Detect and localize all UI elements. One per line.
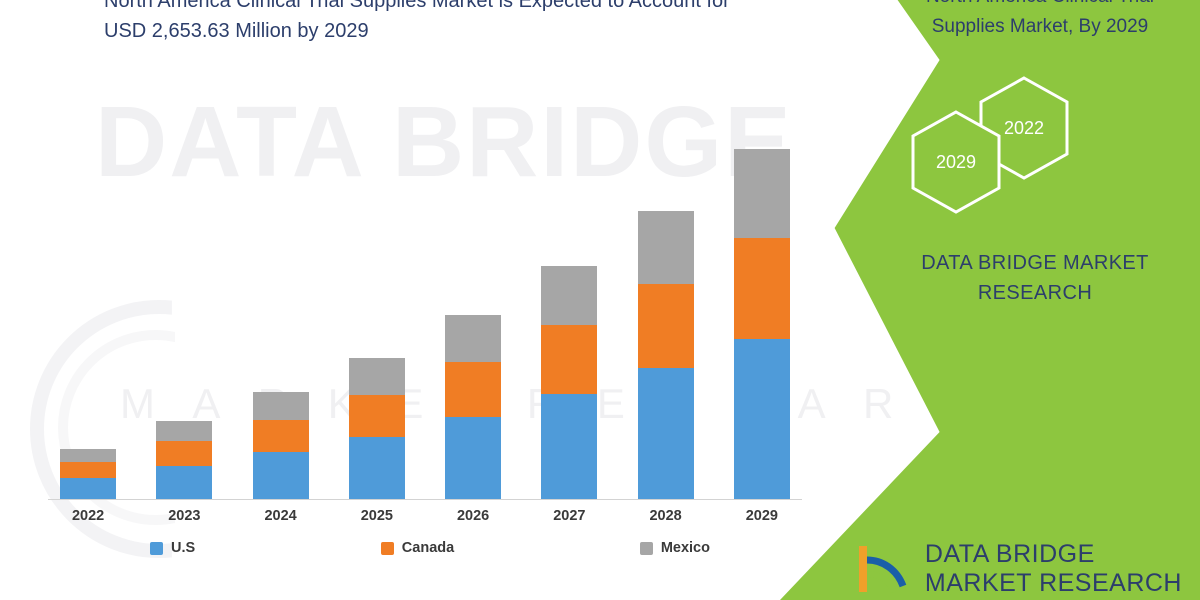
legend-item-canada[interactable]: Canada [381, 540, 454, 556]
bar-column [541, 69, 597, 499]
x-axis-label: 2028 [638, 508, 694, 524]
bar-segment-mexico [156, 421, 212, 441]
bar-segment-mexico [253, 392, 309, 419]
chart-title: North America Clinical Trial Supplies Ma… [104, 0, 744, 46]
bar-segment-canada [349, 395, 405, 437]
legend-swatch-icon [381, 542, 394, 555]
bar-segment-mexico [349, 358, 405, 395]
bar-column [638, 69, 694, 499]
bar-segment-canada [638, 284, 694, 368]
bar-column [60, 69, 116, 499]
panel-brand-name: DATA BRIDGE MARKET RESEARCH [870, 248, 1200, 308]
panel-title: North America Clinical Trial Supplies Ma… [900, 0, 1180, 42]
x-axis-label: 2022 [60, 508, 116, 524]
bar-segment-canada [541, 325, 597, 393]
bar-series-container [40, 69, 810, 499]
legend-label: Canada [402, 540, 454, 556]
bar-segment-us [349, 437, 405, 499]
bar-segment-mexico [541, 266, 597, 326]
panel-brand-line1: DATA BRIDGE MARKET [870, 248, 1200, 278]
x-axis-labels: 20222023202420252026202720282029 [40, 508, 810, 524]
right-panel-content: North America Clinical Trial Supplies Ma… [780, 0, 1200, 600]
legend-item-mexico[interactable]: Mexico [640, 540, 710, 556]
legend-swatch-icon [640, 542, 653, 555]
bar-segment-us [253, 452, 309, 499]
x-axis-line [48, 499, 802, 500]
hexagon-2029-label: 2029 [910, 109, 1002, 215]
bar-segment-mexico [445, 315, 501, 362]
hexagon-2029: 2029 [910, 109, 1002, 215]
x-axis-label: 2026 [445, 508, 501, 524]
bar-column [349, 69, 405, 499]
bar-column [253, 69, 309, 499]
logo-line2: MARKET RESEARCH [925, 569, 1182, 598]
bar-segment-canada [445, 362, 501, 417]
logo-line1: DATA BRIDGE [925, 540, 1182, 569]
bar-segment-us [638, 368, 694, 499]
panel-brand-line2: RESEARCH [870, 278, 1200, 308]
bar-segment-canada [253, 420, 309, 452]
bar-segment-us [156, 466, 212, 499]
chart-legend: U.SCanadaMexico [150, 540, 710, 556]
bar-column [156, 69, 212, 499]
chart-plot-area [40, 60, 810, 500]
bar-segment-us [541, 394, 597, 499]
legend-label: Mexico [661, 540, 710, 556]
logo-text: DATA BRIDGE MARKET RESEARCH [925, 540, 1182, 598]
bridge-logo-icon [853, 540, 913, 598]
x-axis-label: 2027 [541, 508, 597, 524]
bar-segment-canada [156, 441, 212, 466]
x-axis-label: 2023 [156, 508, 212, 524]
legend-swatch-icon [150, 542, 163, 555]
bar-segment-us [60, 478, 116, 499]
company-logo: DATA BRIDGE MARKET RESEARCH [853, 540, 1182, 598]
bar-segment-mexico [60, 449, 116, 461]
bar-segment-canada [60, 462, 116, 478]
bar-segment-us [445, 417, 501, 499]
legend-label: U.S [171, 540, 195, 556]
legend-item-us[interactable]: U.S [150, 540, 195, 556]
bar-column [445, 69, 501, 499]
x-axis-label: 2024 [253, 508, 309, 524]
chart-page: DATA BRIDGE M A R K E T R E S E A R C H … [0, 0, 1200, 600]
x-axis-label: 2025 [349, 508, 405, 524]
hexagon-group: 2022 2029 [900, 85, 1180, 215]
bar-segment-mexico [638, 211, 694, 284]
